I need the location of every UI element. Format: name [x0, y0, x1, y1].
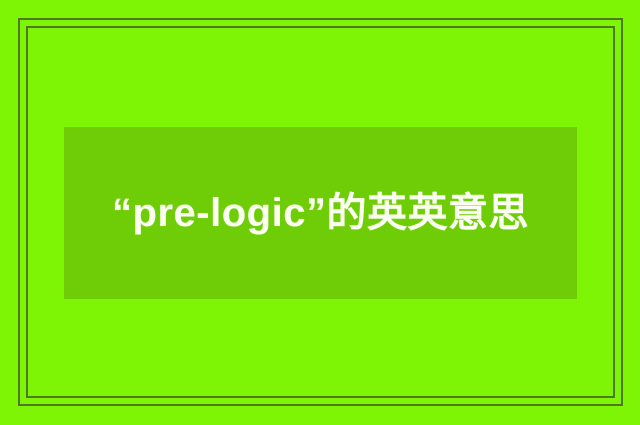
title-panel: “pre-logic”的英英意思 — [64, 127, 577, 299]
page-title: “pre-logic”的英英意思 — [64, 184, 577, 242]
green-title-card: “pre-logic”的英英意思 — [0, 0, 640, 425]
